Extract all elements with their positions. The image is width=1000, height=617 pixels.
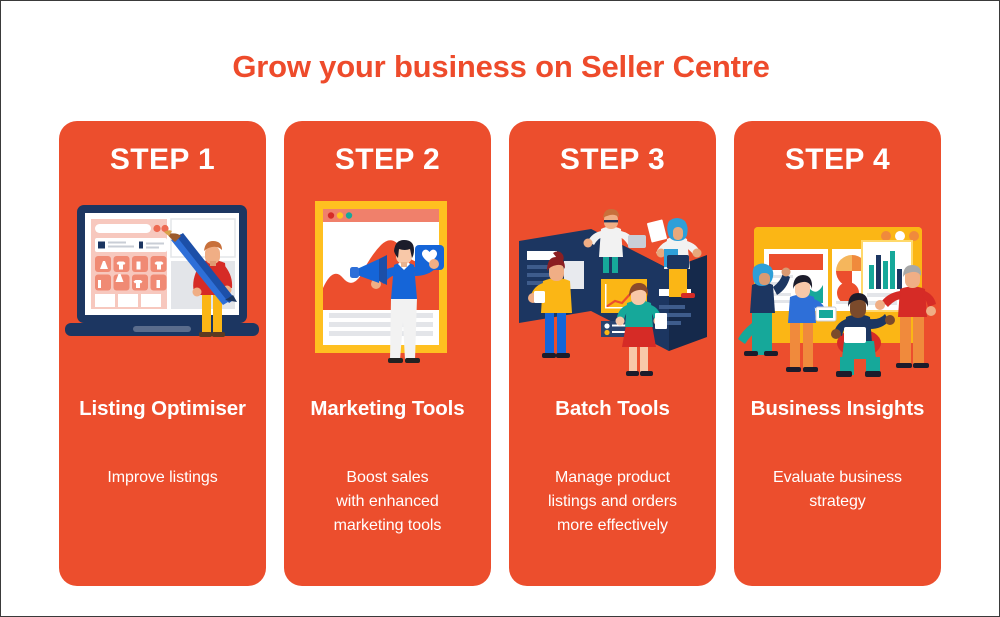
card-title-1: Listing Optimiser bbox=[67, 394, 258, 423]
steps-card-row: STEP 1 bbox=[59, 121, 943, 586]
step-label-4: STEP 4 bbox=[734, 143, 941, 177]
card-desc-3: Manage product listings and orders more … bbox=[515, 466, 710, 538]
step-card-1[interactable]: STEP 1 bbox=[59, 121, 266, 586]
step-card-4[interactable]: STEP 4 bbox=[734, 121, 941, 586]
step-card-3[interactable]: STEP 3 bbox=[509, 121, 716, 586]
card-title-3: Batch Tools bbox=[517, 394, 708, 423]
card-desc-2: Boost sales with enhanced marketing tool… bbox=[290, 466, 485, 538]
infographic-frame: Grow your business on Seller Centre STEP… bbox=[0, 0, 1000, 617]
step-label-1: STEP 1 bbox=[59, 143, 266, 177]
batch-tools-dashboard-illustration bbox=[509, 193, 716, 383]
step-card-2[interactable]: STEP 2 bbox=[284, 121, 491, 586]
card-title-2: Marketing Tools bbox=[292, 394, 483, 423]
step-label-3: STEP 3 bbox=[509, 143, 716, 177]
card-desc-1: Improve listings bbox=[65, 466, 260, 490]
page-title: Grow your business on Seller Centre bbox=[1, 49, 1000, 85]
card-title-4: Business Insights bbox=[742, 394, 933, 423]
step-label-2: STEP 2 bbox=[284, 143, 491, 177]
business-insights-dashboard-illustration bbox=[734, 193, 941, 383]
laptop-listing-illustration bbox=[59, 193, 266, 383]
marketing-browser-illustration bbox=[284, 193, 491, 383]
card-desc-4: Evaluate business strategy bbox=[740, 466, 935, 514]
